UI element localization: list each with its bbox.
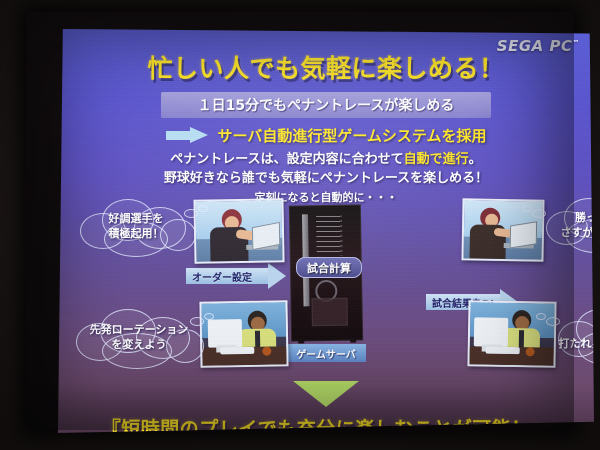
photo-person-at-monitor-lower-right	[467, 300, 556, 368]
bubble-line-1: 勝った！	[575, 211, 594, 224]
bubble-line-1: 先発ローテーション	[90, 323, 189, 336]
bubble-line-2: さすが名監督♪	[560, 226, 594, 239]
green-down-arrow-icon	[293, 381, 359, 407]
photo-person-at-monitor-lower-left	[199, 300, 288, 368]
photo-person-at-laptop-upper-right	[461, 198, 544, 261]
slide-headline: 忙しい人でも気軽に楽しめる！	[58, 49, 594, 85]
subtitle-bar: １日15分でもペナントレースが楽しめる	[161, 92, 491, 118]
thought-bubble-text: 好調選手を 積極起用！	[109, 212, 164, 242]
thought-bubble-tail-upper-right	[532, 209, 546, 218]
body-line-1-part-a: ペナントレースは、設定内容に合わせて	[170, 152, 403, 167]
thought-bubble-lower-right: まさか 打たれるとは・・・	[558, 307, 594, 367]
subtitle-text: １日15分でもペナントレースが楽しめる	[198, 95, 455, 115]
bubble-line-2: 積極起用！	[109, 227, 164, 240]
bubble-line-2: を変えよう	[112, 338, 167, 351]
server-caption-badge: ゲームサーバ	[286, 344, 366, 362]
thought-bubble-tail-lower-left	[190, 317, 204, 326]
body-line-2: 野球好きなら誰でも気軽にペナントレースを楽しめる！	[58, 167, 594, 186]
thought-bubble-tail-dot-lower-right	[536, 313, 546, 320]
thought-bubble-text: まさか 打たれるとは・・・	[559, 322, 595, 352]
presentation-slide: SEGA PC™ 忙しい人でも気軽に楽しめる！ １日15分でもペナントレースが楽…	[58, 29, 594, 433]
projection-screen: SEGA PC™ 忙しい人でも気軽に楽しめる！ １日15分でもペナントレースが楽…	[26, 12, 574, 430]
trademark-mark: ™	[573, 39, 581, 47]
thought-bubble-text: 先発ローテーション を変えよう	[90, 323, 189, 353]
flow-left-label: オーダー設定	[192, 269, 252, 284]
feature-line-text: サーバ自動進行型ゲームシステムを採用	[218, 125, 487, 146]
body-line-1-part-b: 。	[469, 152, 482, 167]
thought-bubble-tail-upper-left	[184, 209, 198, 218]
body-line-1-highlight: 自動で進行	[404, 152, 469, 167]
server-label-text: 試合計算	[307, 260, 351, 276]
bubble-line-1: 好調選手を	[109, 212, 164, 225]
thought-bubble-tail-dot-lower-left	[204, 313, 214, 320]
thought-bubble-upper-left: 好調選手を 積極起用！	[76, 197, 196, 257]
server-caption-text: ゲームサーバ	[296, 346, 356, 361]
thought-bubble-lower-left: 先発ローテーション を変えよう	[74, 307, 204, 369]
thought-bubble-upper-right: 勝った！ さすが名監督♪	[544, 197, 594, 255]
thought-bubble-tail-dot-upper-right	[522, 205, 532, 212]
flow-arrow-order-setting: オーダー設定	[186, 263, 286, 289]
feature-line-row: サーバ自動進行型ゲームシステムを採用	[58, 125, 594, 146]
bubble-line-2: 打たれるとは・・・	[559, 337, 595, 350]
projected-slide-photo: SEGA PC™ 忙しい人でも気軽に楽しめる！ １日15分でもペナントレースが楽…	[0, 0, 600, 450]
right-arrow-bullet-icon	[166, 127, 210, 144]
server-label-badge: 試合計算	[296, 257, 362, 278]
body-line-1: ペナントレースは、設定内容に合わせて自動で進行。	[58, 148, 594, 167]
thought-bubble-tail-dot-upper-left	[198, 205, 208, 212]
thought-bubble-tail-lower-right	[546, 317, 560, 326]
thought-bubble-text: 勝った！ さすが名監督♪	[560, 211, 594, 241]
